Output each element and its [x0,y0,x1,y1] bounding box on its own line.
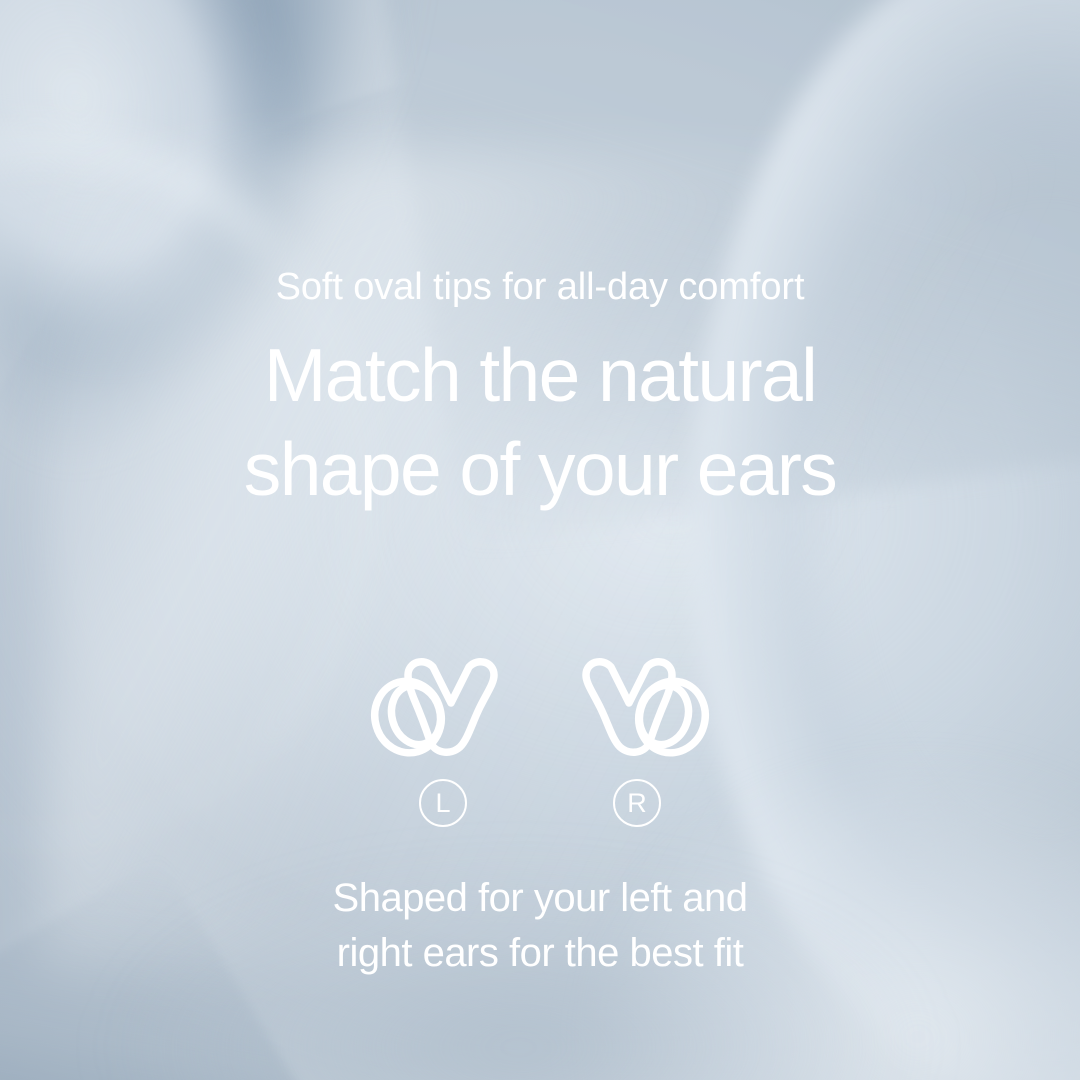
caption-line-2: right ears for the best fit [333,926,748,981]
left-side-badge: L [419,779,467,827]
card-content: Soft oval tips for all-day comfort Match… [0,0,1080,1080]
left-earbud-unit: L [368,651,518,827]
right-earbud-unit: R [562,651,712,827]
caption-text: Shaped for your left and right ears for … [333,871,748,981]
eyebrow-text: Soft oval tips for all-day comfort [276,268,805,308]
product-feature-card: Soft oval tips for all-day comfort Match… [0,0,1080,1080]
caption-line-1: Shaped for your left and [333,871,748,926]
right-earbud-oval-tip-icon [562,651,712,761]
headline-line-2: shape of your ears [244,422,836,517]
right-side-badge: R [613,779,661,827]
earbud-tip-icons-row: L R [368,651,712,827]
headline-line-1: Match the natural [244,328,836,423]
page-title: Match the natural shape of your ears [244,328,836,517]
left-earbud-oval-tip-icon [368,651,518,761]
